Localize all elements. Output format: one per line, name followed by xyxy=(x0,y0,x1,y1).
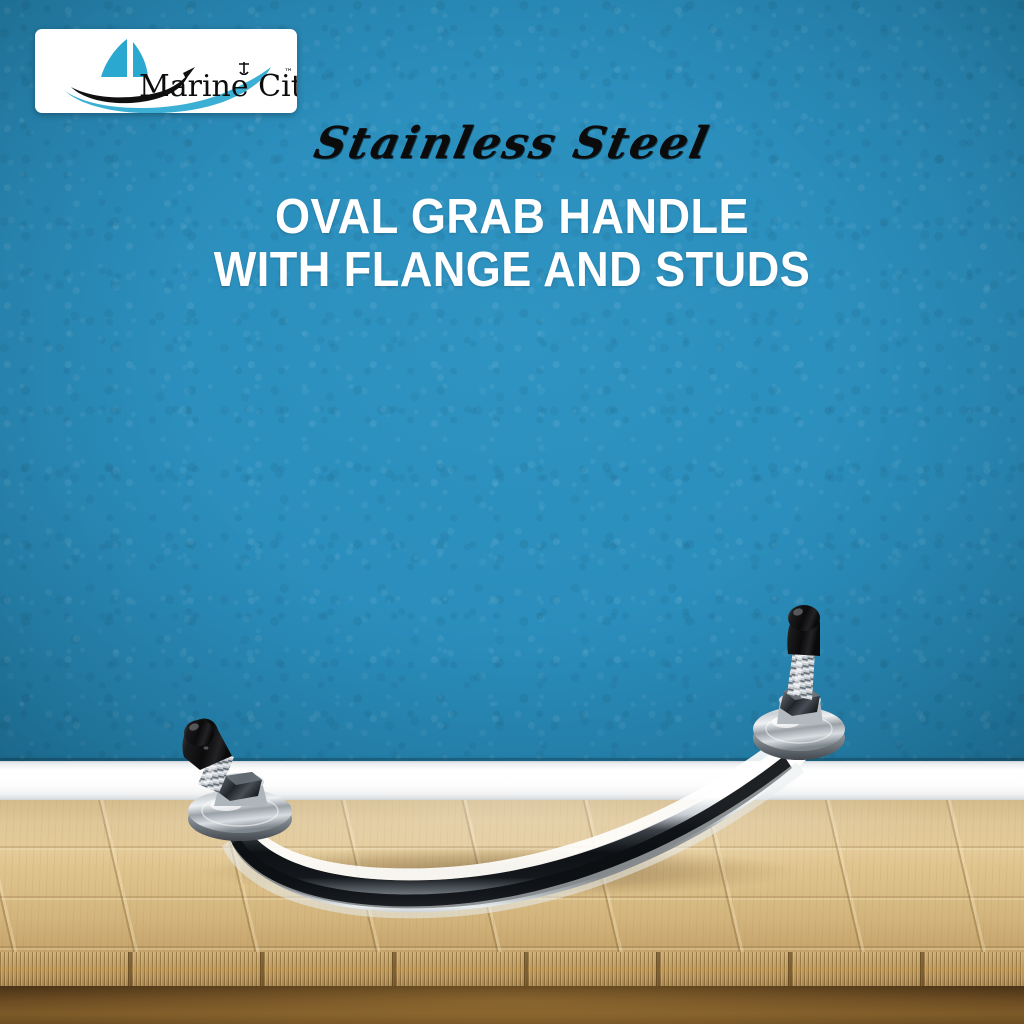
logo-wordmark: Marine City xyxy=(139,69,297,104)
wood-floor xyxy=(0,800,1024,952)
edge-plank-divisions xyxy=(0,952,1024,986)
logo-trademark: ™ xyxy=(284,68,293,78)
floor-sheen xyxy=(0,800,1024,952)
brand-logo[interactable]: Marine City ™ xyxy=(35,29,297,113)
under-shadow xyxy=(0,986,1024,1024)
baseboard-molding xyxy=(0,761,1024,802)
sailboat-icon: Marine City ™ xyxy=(35,29,297,113)
page-title-line2: WITH FLANGE AND STUDS xyxy=(41,242,983,298)
table-edge xyxy=(0,952,1024,986)
product-banner: Marine City ™ Stainless Steel OVAL GRAB … xyxy=(0,0,1024,1024)
page-title-line1: OVAL GRAB HANDLE xyxy=(41,189,983,245)
script-subtitle: Stainless Steel xyxy=(0,118,1024,169)
